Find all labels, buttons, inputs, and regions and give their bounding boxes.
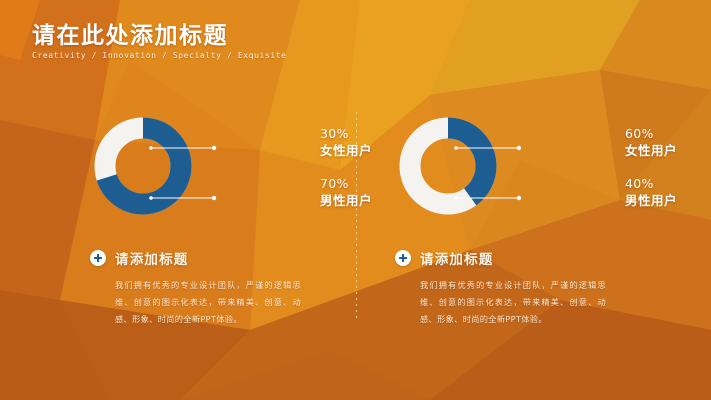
callout-percent: 60% [625, 126, 677, 143]
plus-icon [395, 250, 411, 266]
text-section-left: 请添加标题 我们拥有优秀的专业设计团队，严谨的逻辑思维、创意的图示化表达，带来精… [90, 248, 390, 327]
callout-percent: 30% [320, 126, 372, 143]
leader-dot-c-left [149, 196, 153, 200]
leader-dot-d-right [517, 196, 521, 200]
callout-female-right: 60% 女性用户 [625, 126, 677, 159]
leader-dot-a-left [149, 146, 153, 150]
leader-dot-c-right [454, 196, 458, 200]
callout-male-right: 40% 男性用户 [625, 176, 677, 209]
section-header-left: 请添加标题 [90, 248, 390, 268]
section-header-right: 请添加标题 [395, 248, 695, 268]
callout-caption: 女性用户 [625, 143, 677, 160]
callout-caption: 男性用户 [320, 193, 372, 210]
leader-dot-b-right [517, 146, 521, 150]
callout-percent: 40% [625, 176, 677, 193]
callout-caption: 女性用户 [320, 143, 372, 160]
callout-percent: 70% [320, 176, 372, 193]
callout-male-left: 70% 男性用户 [320, 176, 372, 209]
section-body: 我们拥有优秀的专业设计团队，严谨的逻辑思维、创意的图示化表达，带来精美、创意、动… [115, 277, 301, 327]
leader-dot-a-right [454, 146, 458, 150]
panel-left: 30% 女性用户 70% 男性用户 请添加标题 我们拥有优秀的专业设计团队，严谨… [88, 110, 398, 340]
section-body: 我们拥有优秀的专业设计团队，严谨的逻辑思维、创意的图示化表达，带来精美、创意、动… [420, 277, 606, 327]
page-title: 请在此处添加标题 [32, 24, 287, 48]
section-title: 请添加标题 [115, 248, 189, 268]
section-title: 请添加标题 [420, 248, 494, 268]
leader-dot-d-left [212, 196, 216, 200]
plus-icon [90, 250, 106, 266]
callouts-left: 30% 女性用户 70% 男性用户 [218, 110, 388, 222]
title-block: 请在此处添加标题 Creativity / Innovation / Speci… [32, 24, 287, 60]
text-section-right: 请添加标题 我们拥有优秀的专业设计团队，严谨的逻辑思维、创意的图示化表达，带来精… [395, 248, 695, 327]
callout-caption: 男性用户 [625, 193, 677, 210]
callout-female-left: 30% 女性用户 [320, 126, 372, 159]
slide-canvas: 请在此处添加标题 Creativity / Innovation / Speci… [0, 0, 711, 400]
callouts-right: 60% 女性用户 40% 男性用户 [523, 110, 693, 222]
page-subtitle: Creativity / Innovation / Specialty / Ex… [32, 51, 287, 60]
panel-right: 60% 女性用户 40% 男性用户 请添加标题 我们拥有优秀的专业设计团队，严谨… [393, 110, 703, 340]
leader-dot-b-left [212, 146, 216, 150]
